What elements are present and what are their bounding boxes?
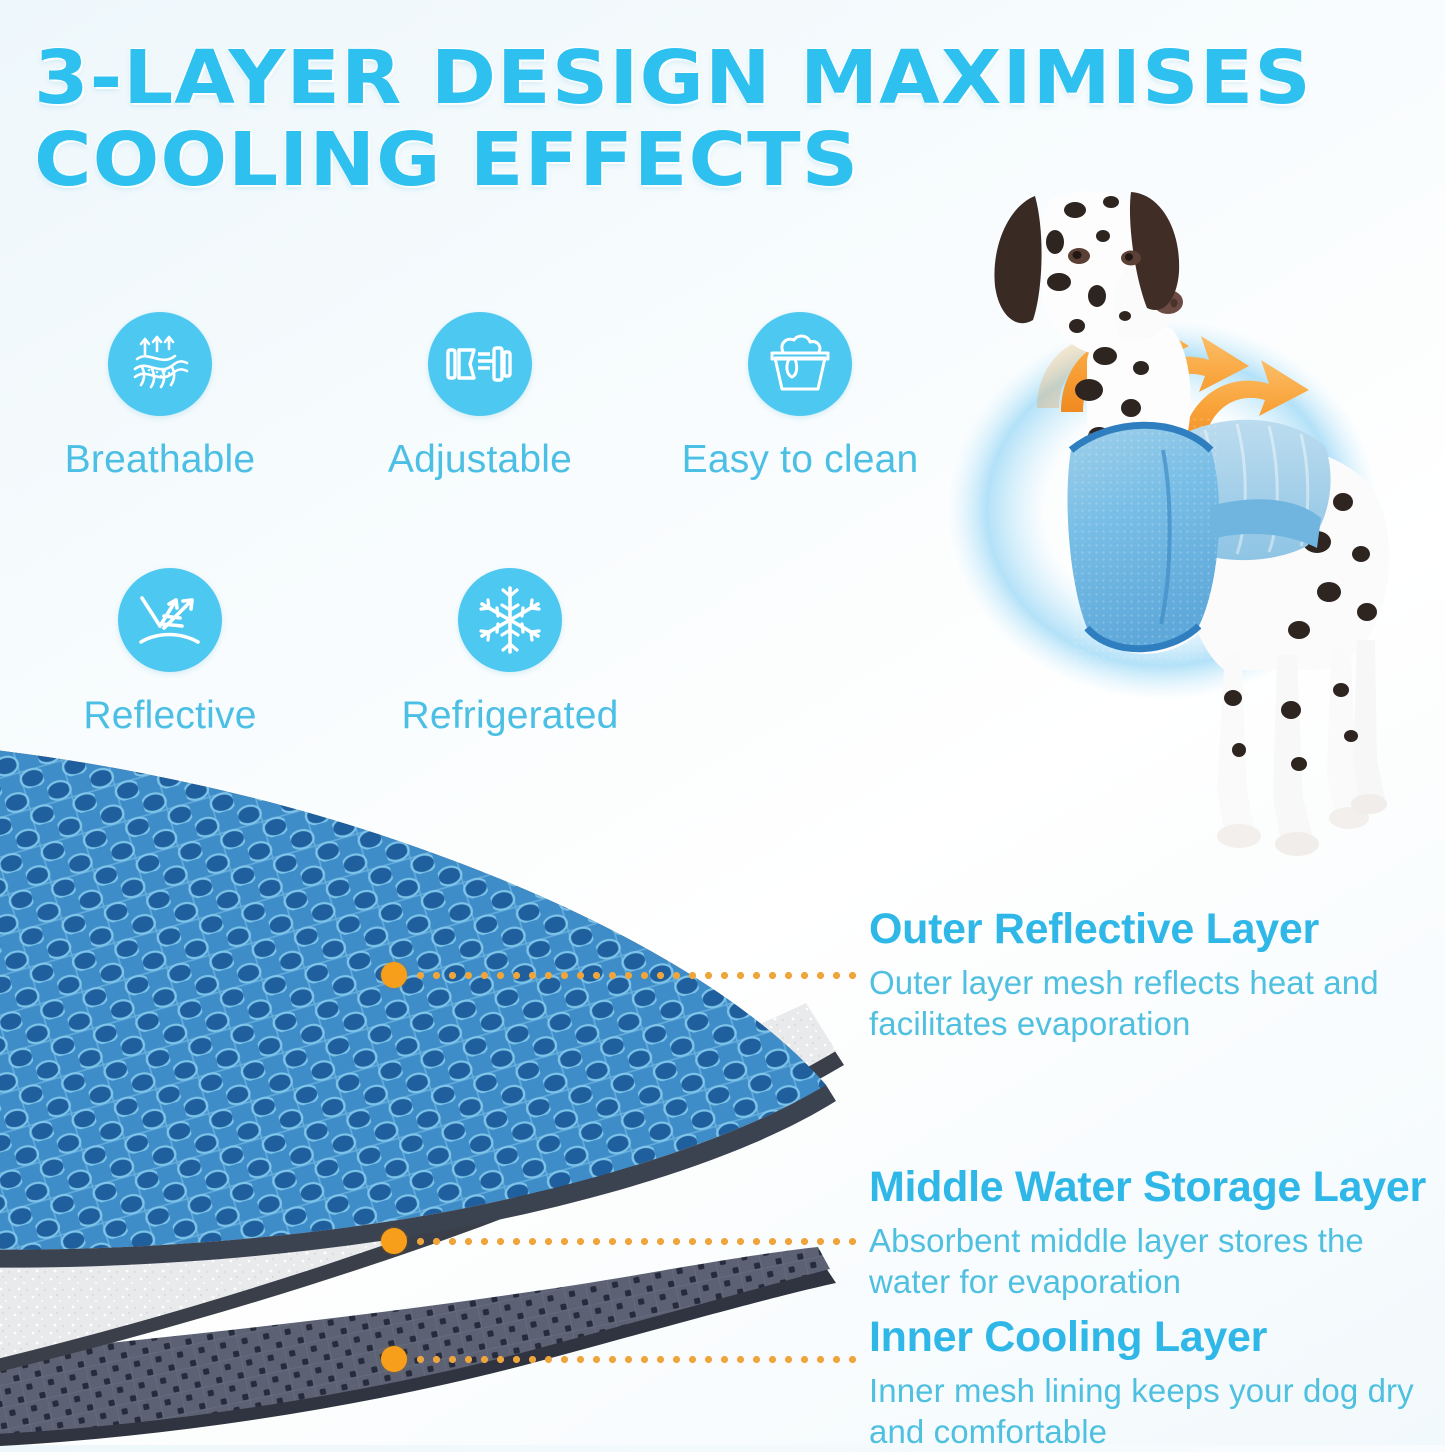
- callout-description: Outer layer mesh reflects heat and facil…: [869, 962, 1445, 1044]
- leader-line-outer: [381, 967, 856, 983]
- buckle-clip-icon: [428, 312, 532, 416]
- leader-dashes: [416, 1237, 856, 1246]
- feature-breathable: Breathable: [0, 312, 320, 482]
- feature-reflective: Reflective: [0, 568, 340, 738]
- leader-line-inner: [381, 1351, 856, 1367]
- leader-line-middle: [381, 1233, 856, 1249]
- swatch-outer-reflective-layer: [0, 741, 836, 1268]
- feature-label: Refrigerated: [401, 694, 618, 738]
- infographic-canvas: 3-LAYER DESIGN MAXIMISES COOLING EFFECTS: [0, 0, 1445, 1445]
- wash-basin-suds-icon: [748, 312, 852, 416]
- callout-description: Inner mesh lining keeps your dog dry and…: [869, 1370, 1445, 1452]
- snowflake-icon: [458, 568, 562, 672]
- feature-icon-grid: Breathable Adjustable: [0, 312, 960, 738]
- leader-dot: [381, 1346, 407, 1372]
- callout-heading: Middle Water Storage Layer: [869, 1163, 1445, 1212]
- feature-label: Easy to clean: [682, 438, 919, 482]
- leader-dot: [381, 1228, 407, 1254]
- callout-inner-layer: Inner Cooling Layer Inner mesh lining ke…: [869, 1313, 1445, 1452]
- leader-dot: [381, 962, 407, 988]
- feature-label: Reflective: [83, 694, 256, 738]
- feature-refrigerated: Refrigerated: [340, 568, 680, 738]
- fabric-layer-swatches: [0, 735, 900, 1447]
- callout-heading: Inner Cooling Layer: [869, 1313, 1445, 1362]
- title-line-1: 3-LAYER DESIGN MAXIMISES: [34, 42, 1221, 114]
- callout-middle-layer: Middle Water Storage Layer Absorbent mid…: [869, 1163, 1445, 1302]
- reflective-rays-icon: [118, 568, 222, 672]
- leader-dashes: [416, 1355, 856, 1364]
- callout-outer-layer: Outer Reflective Layer Outer layer mesh …: [869, 905, 1445, 1044]
- leader-dashes: [416, 971, 856, 980]
- feature-easy-to-clean: Easy to clean: [640, 312, 960, 482]
- callout-heading: Outer Reflective Layer: [869, 905, 1445, 954]
- breathable-fabric-icon: [108, 312, 212, 416]
- callout-description: Absorbent middle layer stores the water …: [869, 1220, 1445, 1302]
- feature-adjustable: Adjustable: [320, 312, 640, 482]
- feature-label: Adjustable: [388, 438, 572, 482]
- feature-label: Breathable: [65, 438, 256, 482]
- product-photo-dog-in-vest: [925, 150, 1445, 890]
